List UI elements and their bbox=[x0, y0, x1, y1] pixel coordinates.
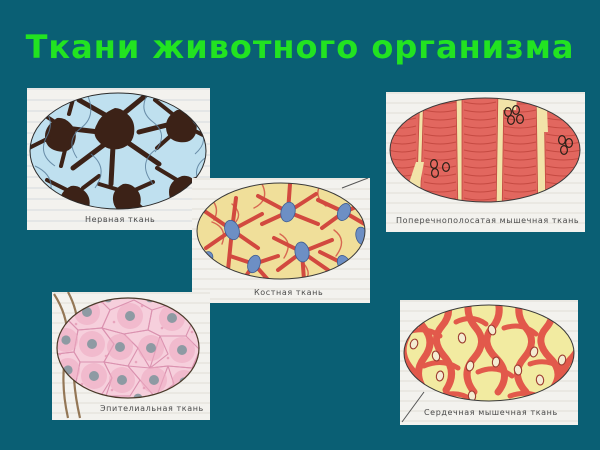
bone-tissue-illustration bbox=[192, 178, 370, 303]
caption-nervous-tissue: Нервная ткань bbox=[85, 215, 155, 224]
striated-muscle-illustration bbox=[386, 92, 585, 232]
caption-cardiac-muscle-tissue: Сердечная мышечная ткань bbox=[424, 408, 558, 417]
epithelial-tissue-illustration bbox=[52, 292, 210, 420]
panel-bone-tissue: Костная ткань bbox=[192, 178, 370, 303]
caption-bone-tissue: Костная ткань bbox=[254, 288, 323, 297]
slide: Ткани животного организма bbox=[0, 0, 600, 450]
panel-epithelial-tissue: Эпителиальная ткань bbox=[52, 292, 210, 420]
nervous-tissue-illustration bbox=[27, 88, 210, 230]
panel-striated-muscle-tissue: Поперечнополосатая мышечная ткань bbox=[386, 92, 585, 232]
panel-cardiac-muscle-tissue: Сердечная мышечная ткань bbox=[400, 300, 578, 425]
panel-nervous-tissue: Нервная ткань bbox=[27, 88, 210, 230]
caption-epithelial-tissue: Эпителиальная ткань bbox=[100, 404, 204, 413]
cardiac-muscle-illustration bbox=[400, 300, 578, 425]
caption-striated-muscle-tissue: Поперечнополосатая мышечная ткань bbox=[396, 216, 579, 225]
page-title: Ткани животного организма bbox=[0, 28, 600, 66]
